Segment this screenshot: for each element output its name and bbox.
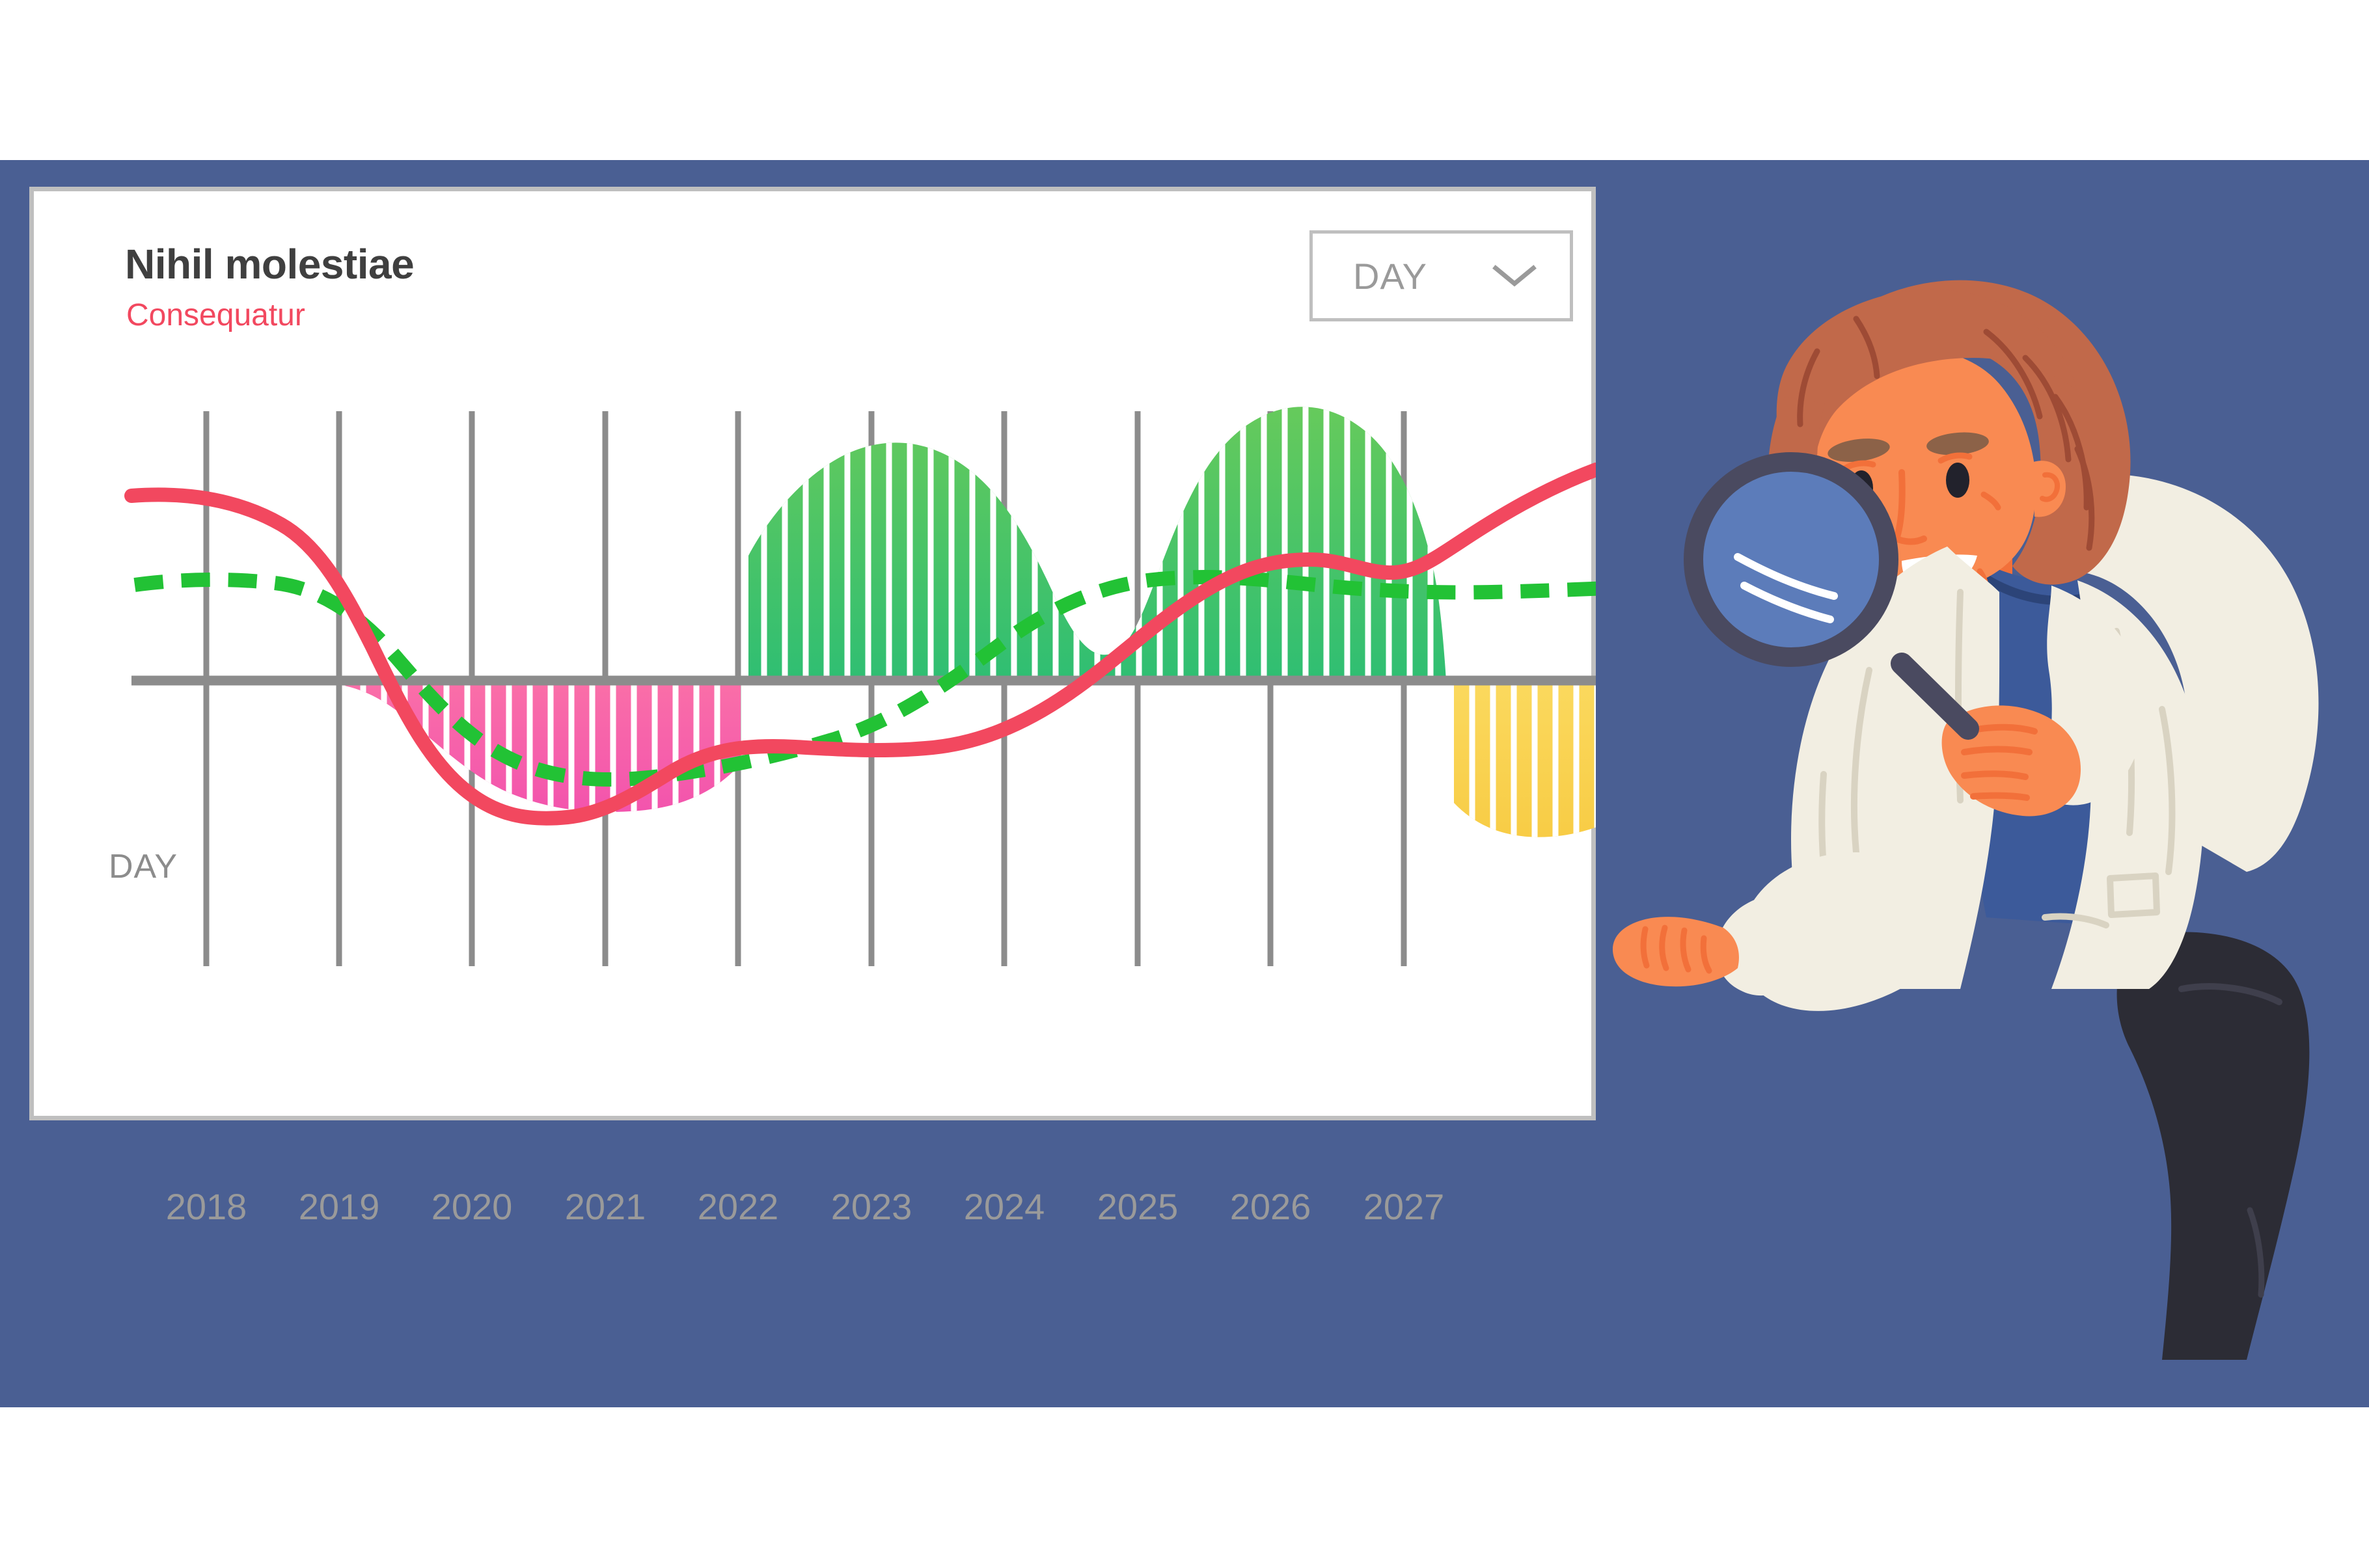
woman-scientist-illustration <box>1596 280 2369 1373</box>
x-tick-label: 2026 <box>1230 1185 1311 1228</box>
pointing-hand <box>1613 917 1739 986</box>
eye-right <box>1946 463 1969 498</box>
magnifier-lens <box>1693 462 1889 657</box>
chart-card: Nihil molestiae Consequatur DAY DAY <box>29 187 1596 1120</box>
x-tick-label: 2019 <box>299 1185 380 1228</box>
x-tick-label: 2018 <box>166 1185 247 1228</box>
pants <box>2117 932 2310 1360</box>
chart-plot <box>34 191 1596 1122</box>
x-tick-label: 2024 <box>964 1185 1045 1228</box>
x-tick-label: 2020 <box>431 1185 513 1228</box>
x-tick-label: 2025 <box>1097 1185 1179 1228</box>
screen-root: Nihil molestiae Consequatur DAY DAY <box>0 0 2369 1568</box>
series-green-bars <box>743 384 1453 686</box>
x-tick-label: 2022 <box>698 1185 779 1228</box>
series-yellow-bars <box>1451 678 1596 881</box>
x-tick-label: 2021 <box>565 1185 646 1228</box>
x-axis-labels: 2018 2019 2020 2021 2022 2023 2024 2025 … <box>34 1185 1596 1244</box>
x-tick-label: 2023 <box>831 1185 912 1228</box>
x-tick-label: 2027 <box>1363 1185 1445 1228</box>
